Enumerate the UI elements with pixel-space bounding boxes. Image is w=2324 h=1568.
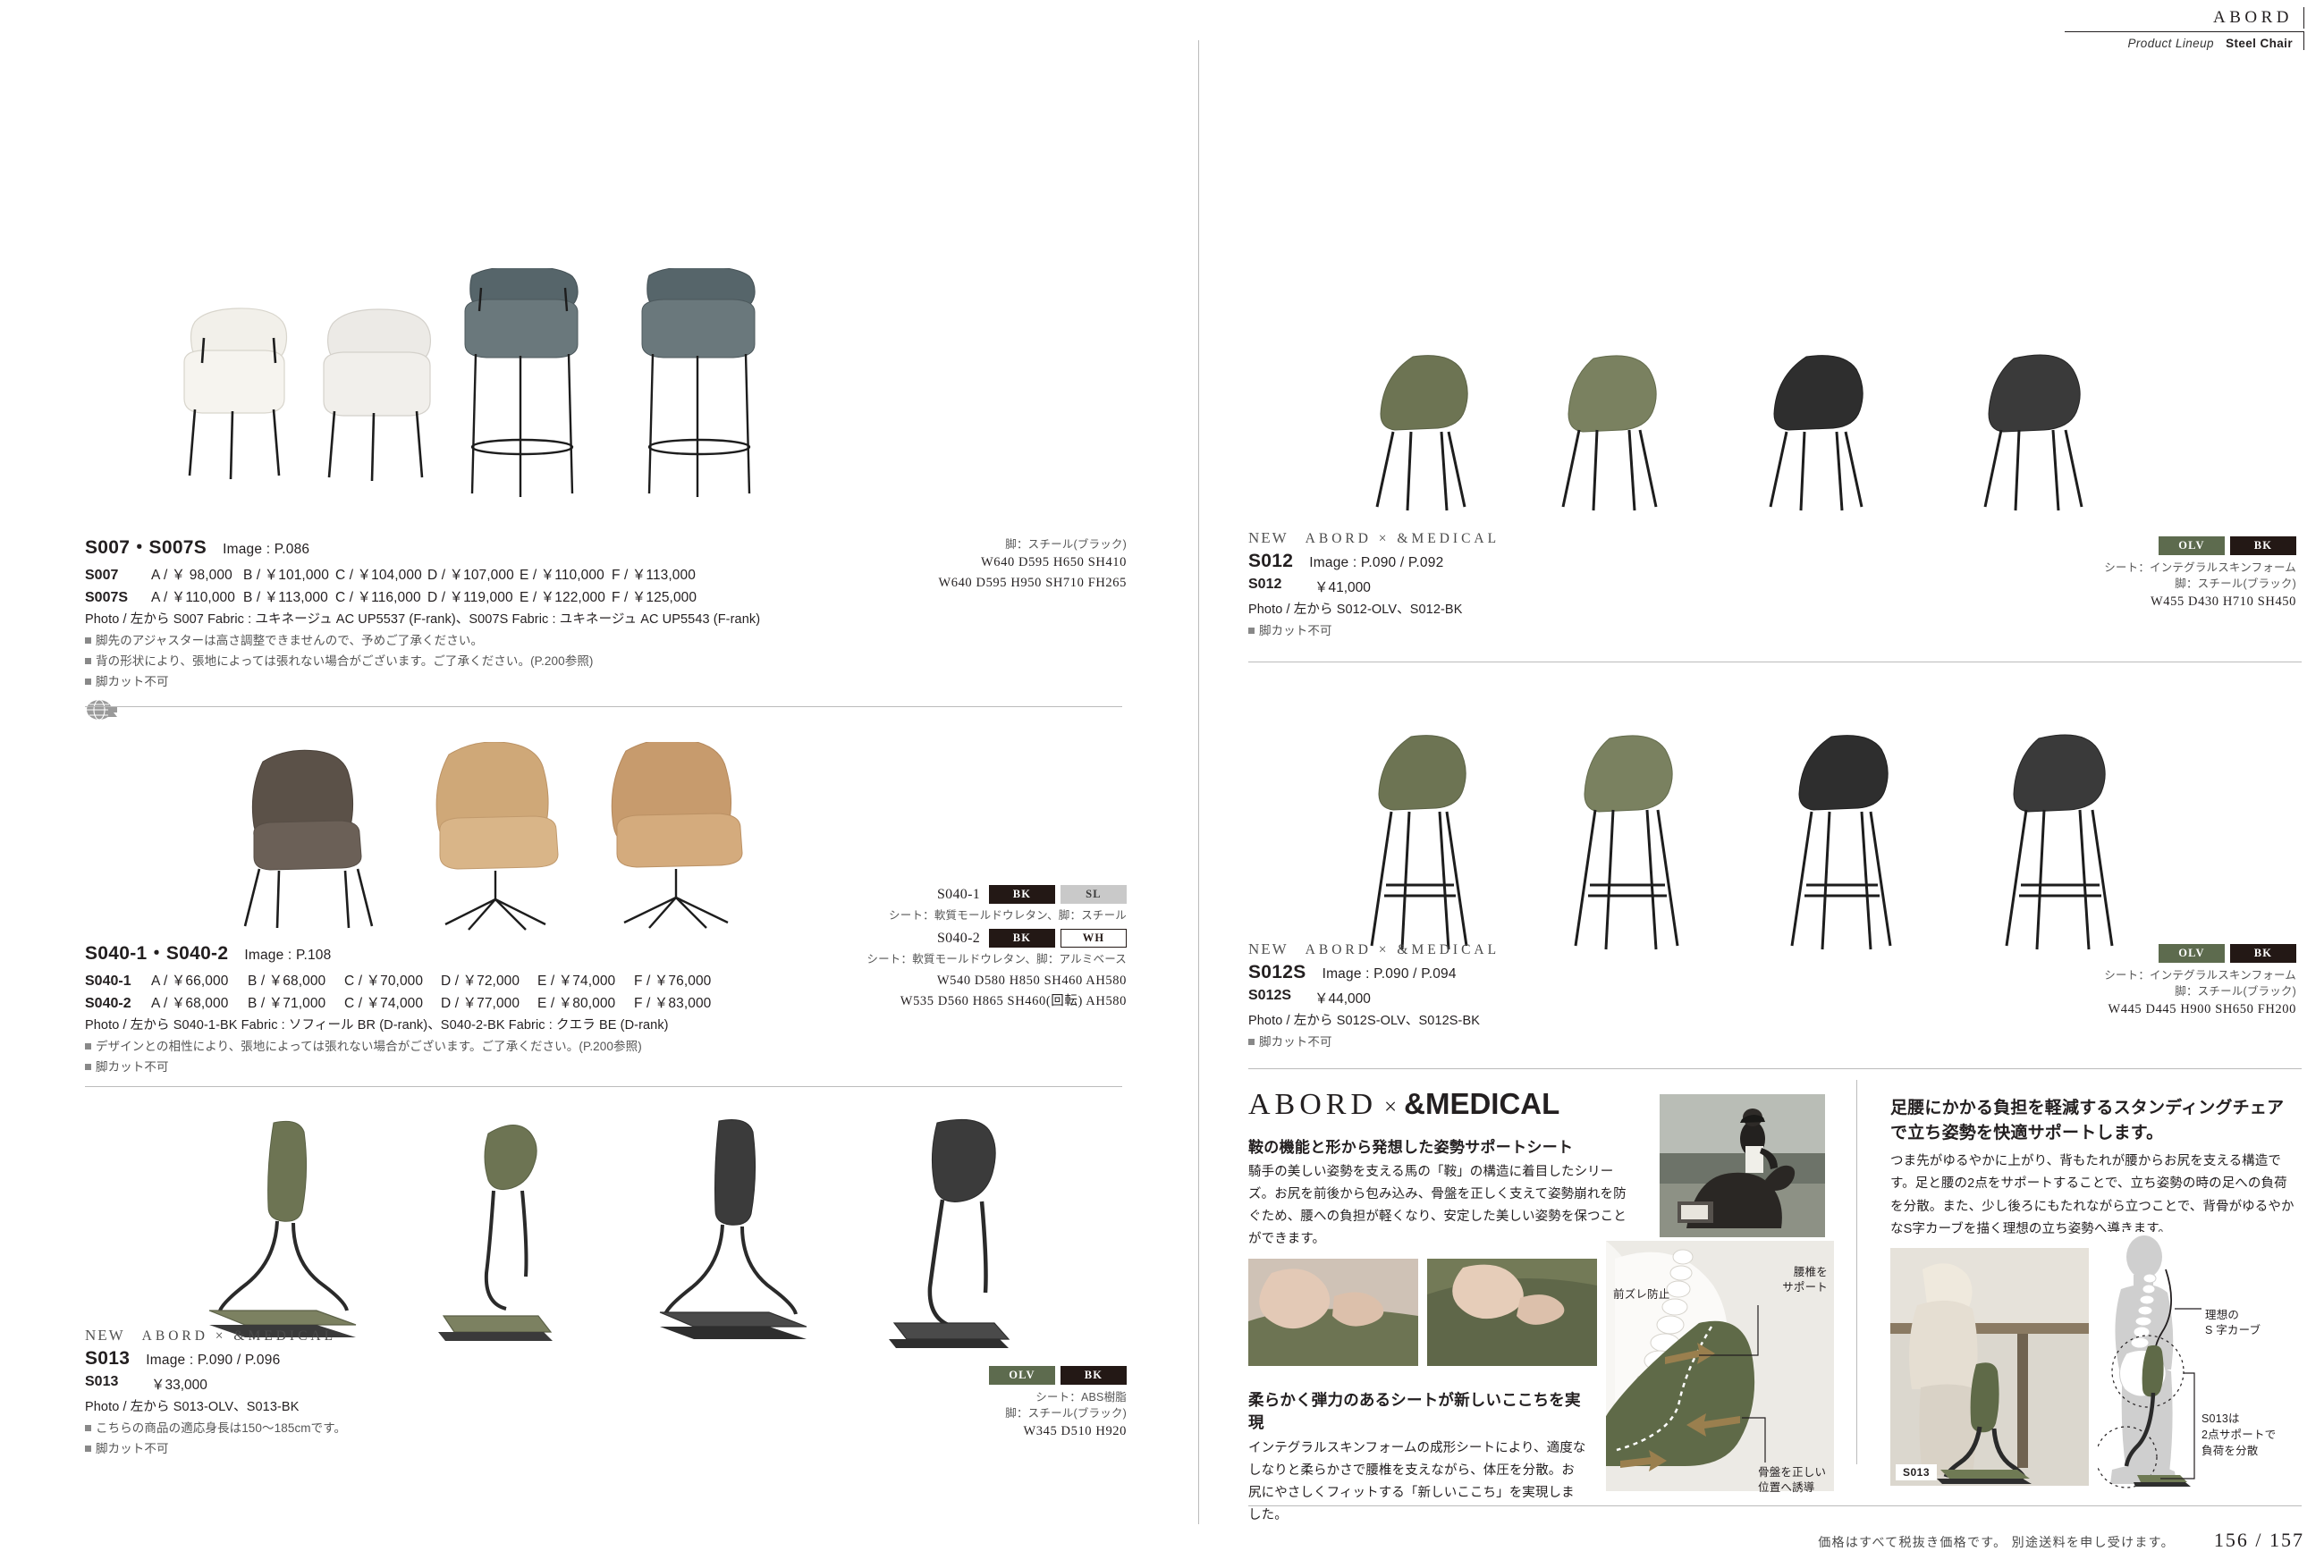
s013-photo-line: Photo / 左から S013-OLV、S013-BK xyxy=(85,1396,818,1415)
s040-image-ref: Image : P.108 xyxy=(244,948,331,964)
brand-logo: ABORD xyxy=(2213,7,2304,29)
collab-brand: ABORD × &MEDICAL xyxy=(1306,531,1500,546)
bullet-square-icon xyxy=(85,1043,91,1050)
s040-2-price-row: S040-2 A / ￥68,000 B / ￥71,000 C / ￥74,0… xyxy=(85,992,818,1012)
s013-dimensions: W345 D510 H920 xyxy=(894,1421,1127,1441)
s013-price-row: S013 ￥33,000 xyxy=(85,1374,818,1394)
price-code: S012 xyxy=(1248,577,1314,596)
price-cell: D / ￥107,000 xyxy=(427,564,520,584)
standing-chair-usage-illustration xyxy=(1890,1248,2089,1486)
callout-lumbar-support: 腰椎を サポート xyxy=(1765,1250,1828,1295)
swatch-wh[interactable]: WH xyxy=(1061,929,1127,948)
price-cell: F / ￥125,000 xyxy=(612,586,704,606)
s007-code: S007・S007S xyxy=(85,533,207,560)
s007-title-row: S007・S007S Image : P.086 xyxy=(85,533,818,560)
feature-right: 足腰にかかる負担を軽減するスタンディングチェアで立ち姿勢を快適サポートします。 … xyxy=(1890,1096,2298,1242)
s040-code: S040-1・S040-2 xyxy=(85,939,228,965)
price-cell: C / ￥74,000 xyxy=(344,992,441,1012)
s040-chairs-illustration xyxy=(224,742,885,939)
section-divider xyxy=(85,706,1122,707)
s007-image-ref: Image : P.086 xyxy=(223,542,309,558)
s012s-material-seat: シート：インテグラルスキンフォーム xyxy=(2057,967,2296,983)
price-cell: F / ￥113,000 xyxy=(612,564,704,584)
note-text: 脚先のアジャスターは高さ調整できませんので、予めご了承ください。 xyxy=(96,634,483,647)
column-divider xyxy=(1198,40,1199,1524)
price-cell: C / ￥116,000 xyxy=(335,586,427,606)
product-block-s012: NEW ABORD × &MEDICAL S012 Image : P.090 … xyxy=(1248,529,1928,638)
s012s-title-row: S012S Image : P.090 / P.094 xyxy=(1248,962,1928,983)
bullet-square-icon xyxy=(85,637,91,644)
bullet-square-icon xyxy=(85,1446,91,1452)
price-cell: B / ￥101,000 xyxy=(243,564,335,584)
photo-badge-s013: S013 xyxy=(1896,1464,1937,1480)
category-label: Steel Chair xyxy=(2226,37,2293,50)
s012-note: 脚カット不可 xyxy=(1248,620,1928,638)
price-cell: B / ￥113,000 xyxy=(243,586,335,606)
feature-panel: ABORD×&MEDICAL 鞍の機能と形から発想した姿勢サポートシート 騎手の… xyxy=(1248,1080,2303,1518)
swatch-bk[interactable]: BK xyxy=(2230,944,2296,963)
swatch-olv[interactable]: OLV xyxy=(989,1366,1055,1385)
note-text: 脚カット不可 xyxy=(1259,1035,1332,1049)
s012s-stools-illustration xyxy=(1359,733,2280,961)
s012s-material-leg: 脚：スチール(ブラック) xyxy=(2057,983,2296,999)
price-value: ￥41,000 xyxy=(1314,577,1371,596)
price-code: S013 xyxy=(85,1374,151,1394)
spec-box-s013: OLV BK シート：ABS樹脂 脚：スチール(ブラック) W345 D510 … xyxy=(894,1366,1127,1442)
photo-seat-detail-2 xyxy=(1427,1259,1597,1366)
s012-chairs-illustration xyxy=(1359,353,2271,523)
bullet-square-icon xyxy=(85,1425,91,1431)
section-divider xyxy=(1248,1068,2302,1069)
feature-body-2: インテグラルスキンフォームの成形シートにより、適度なしなりと柔らかさで腰椎を支え… xyxy=(1248,1437,1586,1527)
hand-on-seat-illustration xyxy=(1248,1259,1418,1366)
price-cell: B / ￥71,000 xyxy=(248,992,344,1012)
feature-body: 騎手の美しい姿勢を支える馬の「鞍」の構造に着目したシリーズ。お尻を前後から包み込… xyxy=(1248,1161,1633,1251)
price-cell: F / ￥83,000 xyxy=(634,992,731,1012)
callout-ideal-s-curve: 理想の S 字カーブ xyxy=(2205,1293,2261,1338)
s013-title-row: S013 Image : P.090 / P.096 xyxy=(85,1348,818,1370)
s013-image-ref: Image : P.090 / P.096 xyxy=(146,1353,280,1369)
price-cell: C / ￥70,000 xyxy=(344,970,441,990)
s012-dimensions: W455 D430 H710 SH450 xyxy=(2057,592,2296,611)
s040-1-material: シート：軟質モールドウレタン、脚：スチール xyxy=(854,907,1127,923)
product-block-s012s: NEW ABORD × &MEDICAL S012S Image : P.090… xyxy=(1248,940,1928,1050)
product-lineup-label: Product Lineup xyxy=(2127,37,2213,50)
swatch-sl[interactable]: SL xyxy=(1061,885,1127,904)
s007-note: 脚カット不可 xyxy=(85,671,818,689)
s013-code: S013 xyxy=(85,1348,130,1370)
collab-brand: ABORD × &MEDICAL xyxy=(1306,942,1500,957)
swatch-bk[interactable]: BK xyxy=(989,929,1055,948)
price-cell: D / ￥77,000 xyxy=(441,992,537,1012)
s012-photo-line: Photo / 左から S012-OLV、S012-BK xyxy=(1248,599,1928,618)
price-cell: C / ￥104,000 xyxy=(335,564,427,584)
diagram-ideal-posture: 理想の S 字カーブ S013は 2点サポートで 負荷を分散 xyxy=(2098,1232,2300,1491)
photo-s013-in-use: S013 xyxy=(1890,1248,2089,1486)
note-text: 脚カット不可 xyxy=(96,675,169,688)
product-photo-s012s xyxy=(1359,733,2280,961)
spec-box-s012: OLV BK シート：インテグラルスキンフォーム 脚：スチール(ブラック) W4… xyxy=(2057,536,2296,612)
s040-photo-line: Photo / 左から S040-1-BK Fabric : ソフィール BR … xyxy=(85,1015,818,1033)
swatch-bk[interactable]: BK xyxy=(989,885,1055,904)
collab-brand: ABORD × &MEDICAL xyxy=(142,1328,336,1344)
s012s-photo-line: Photo / 左から S012S-OLV、S012S-BK xyxy=(1248,1010,1928,1029)
s040-1-price-row: S040-1 A / ￥66,000 B / ￥68,000 C / ￥70,0… xyxy=(85,970,818,990)
s007-chairs-illustration xyxy=(89,268,1091,527)
s040-1-label: S040-1 xyxy=(937,887,980,903)
price-cell: D / ￥119,000 xyxy=(427,586,520,606)
spec-box-s040: S040-1 BK SL シート：軟質モールドウレタン、脚：スチール S040-… xyxy=(854,885,1127,1011)
feature-brand-abord: ABORD xyxy=(1248,1088,1377,1121)
s012-material-seat: シート：インテグラルスキンフォーム xyxy=(2057,560,2296,576)
spec-box-s012s: OLV BK シート：インテグラルスキンフォーム 脚：スチール(ブラック) W4… xyxy=(2057,944,2296,1020)
s012-swatch-row: OLV BK xyxy=(2057,536,2296,555)
note-text: 脚カット不可 xyxy=(96,1442,169,1455)
product-photo-s040 xyxy=(224,742,885,939)
s007-price-row: S007 A / ￥ 98,000 B / ￥101,000 C / ￥104,… xyxy=(85,564,818,584)
new-badge: NEW xyxy=(1248,940,1289,957)
price-cell: D / ￥72,000 xyxy=(441,970,537,990)
page-header: ABORD Product Lineup Steel Chair xyxy=(2065,7,2304,52)
price-cell: A / ￥68,000 xyxy=(151,992,248,1012)
s013-swatch-row: OLV BK xyxy=(894,1366,1127,1385)
product-block-s013: NEW ABORD × &MEDICAL S013 Image : P.090 … xyxy=(85,1327,818,1456)
s040-2-swatch-row: S040-2 BK WH xyxy=(854,929,1127,948)
s040-note: 脚カット不可 xyxy=(85,1057,818,1075)
s012s-price-row: S012S ￥44,000 xyxy=(1248,988,1928,1007)
feature-right-body: つま先がゆるやかに上がり、背もたれが腰からお尻を支える構造です。足と腰の2点をサ… xyxy=(1890,1151,2298,1242)
price-cell: A / ￥110,000 xyxy=(151,586,243,606)
page-number: 156 / 157 xyxy=(2214,1529,2304,1552)
s012s-image-ref: Image : P.090 / P.094 xyxy=(1323,966,1457,982)
bullet-square-icon xyxy=(85,679,91,685)
s007s-dimensions: W640 D595 H950 SH710 FH265 xyxy=(858,573,1127,593)
s012s-swatch-row: OLV BK xyxy=(2057,944,2296,963)
globe-fabric-icon xyxy=(85,698,121,721)
section-divider xyxy=(85,1086,1122,1087)
swatch-olv[interactable]: OLV xyxy=(2159,944,2225,963)
footer-divider xyxy=(1248,1505,2302,1506)
price-cell: A / ￥66,000 xyxy=(151,970,248,990)
s040-2-material: シート：軟質モールドウレタン、脚：アルミベース xyxy=(854,951,1127,967)
s007-photo-line: Photo / 左から S007 Fabric : ユキネージュ AC UP55… xyxy=(85,609,818,628)
hand-pressing-seat-illustration xyxy=(1427,1259,1597,1366)
callout-text: 腰椎を サポート xyxy=(1782,1266,1828,1294)
callout-text: 理想の S 字カーブ xyxy=(2205,1309,2261,1336)
s040-note: デザインとの相性により、張地によっては張れない場合がございます。ご了承ください。… xyxy=(85,1036,818,1054)
price-code: S040-2 xyxy=(85,996,151,1012)
note-text: 脚カット不可 xyxy=(1259,624,1332,637)
s007-note: 背の形状により、張地によっては張れない場合がございます。ご了承ください。(P.2… xyxy=(85,651,818,669)
s012s-dimensions: W445 D445 H900 SH650 FH200 xyxy=(2057,999,2296,1019)
price-code: S007S xyxy=(85,590,151,606)
spec-box-s007: 脚：スチール(ブラック) W640 D595 H650 SH410 W640 D… xyxy=(858,536,1127,593)
bullet-square-icon xyxy=(1248,628,1255,634)
s012s-code: S012S xyxy=(1248,962,1306,983)
price-cell: F / ￥76,000 xyxy=(634,970,731,990)
price-value: ￥44,000 xyxy=(1314,988,1371,1007)
feature-right-heading: 足腰にかかる負担を軽減するスタンディングチェアで立ち姿勢を快適サポートします。 xyxy=(1890,1096,2298,1145)
feature-subheading: 鞍の機能と形から発想した姿勢サポートシート xyxy=(1248,1134,1633,1157)
feature-brand-medical: &MEDICAL xyxy=(1404,1087,1559,1120)
callout-text: S013は 2点サポートで 負荷を分散 xyxy=(2201,1412,2276,1457)
s013-note: 脚カット不可 xyxy=(85,1438,818,1456)
s007-material: 脚：スチール(ブラック) xyxy=(858,536,1127,552)
swatch-bk[interactable]: BK xyxy=(2230,536,2296,555)
note-text: こちらの商品の適応身長は150～185cmです。 xyxy=(96,1421,346,1435)
swatch-bk[interactable]: BK xyxy=(1061,1366,1127,1385)
bullet-square-icon xyxy=(85,1064,91,1070)
s040-2-label: S040-2 xyxy=(937,931,980,947)
footer-note: 価格はすべて税抜き価格です。 別途送料を申し受けます。 xyxy=(1818,1533,2175,1551)
s012-material-leg: 脚：スチール(ブラック) xyxy=(2057,576,2296,592)
swatch-olv[interactable]: OLV xyxy=(2159,536,2225,555)
cross-icon: × xyxy=(1384,1095,1397,1119)
s040-title-row: S040-1・S040-2 Image : P.108 xyxy=(85,939,818,965)
s040-1-dimensions: W540 D580 H850 SH460 AH580 xyxy=(854,971,1127,991)
s012-collab-line: NEW ABORD × &MEDICAL xyxy=(1248,529,1928,547)
s012s-note: 脚カット不可 xyxy=(1248,1032,1928,1050)
callout-text: 前ズレ防止 xyxy=(1613,1288,1670,1301)
product-photo-s012 xyxy=(1359,353,2271,523)
s012-code: S012 xyxy=(1248,551,1293,572)
s013-material-seat: シート：ABS樹脂 xyxy=(894,1389,1127,1405)
s012s-collab-line: NEW ABORD × &MEDICAL xyxy=(1248,940,1928,958)
bullet-square-icon xyxy=(1248,1039,1255,1045)
price-cell: A / ￥ 98,000 xyxy=(151,564,243,584)
feature-subheading-2: 柔らかく弾力のあるシートが新しいここちを実現 xyxy=(1248,1388,1588,1433)
product-block-s007: S007・S007S Image : P.086 S007 A / ￥ 98,0… xyxy=(85,533,818,726)
s012-price-row: S012 ￥41,000 xyxy=(1248,577,1928,596)
price-code: S007 xyxy=(85,568,151,584)
price-cell: E / ￥122,000 xyxy=(520,586,612,606)
feature-divider xyxy=(1856,1080,1857,1464)
s012-image-ref: Image : P.090 / P.092 xyxy=(1309,555,1443,571)
price-code: S040-1 xyxy=(85,974,151,990)
new-badge: NEW xyxy=(85,1327,125,1344)
s007s-price-row: S007S A / ￥110,000 B / ￥113,000 C / ￥116… xyxy=(85,586,818,606)
callout-two-point-support: S013は 2点サポートで 負荷を分散 xyxy=(2201,1395,2276,1460)
s040-2-dimensions: W535 D560 H865 SH460(回転) AH580 xyxy=(854,991,1127,1011)
product-photo-s007 xyxy=(89,268,1091,527)
bullet-square-icon xyxy=(85,658,91,664)
price-cell: E / ￥80,000 xyxy=(537,992,634,1012)
photo-horse-rider xyxy=(1660,1094,1825,1237)
note-text: 背の形状により、張地によっては張れない場合がございます。ご了承ください。(P.2… xyxy=(96,654,594,668)
price-code: S012S xyxy=(1248,988,1314,1007)
s007-dimensions: W640 D595 H650 SH410 xyxy=(858,552,1127,572)
page-footer: 価格はすべて税抜き価格です。 別途送料を申し受けます。 156 / 157 xyxy=(1818,1529,2304,1552)
product-block-s040: S040-1・S040-2 Image : P.108 S040-1 A / ￥… xyxy=(85,939,818,1075)
callout-pelvis-guide: 骨盤を正しい 位置へ誘導 xyxy=(1758,1450,1835,1496)
section-divider xyxy=(1248,662,2302,662)
header-subline: Product Lineup Steel Chair xyxy=(2127,32,2304,50)
price-cell: E / ￥110,000 xyxy=(520,564,612,584)
photo-seat-detail-1 xyxy=(1248,1259,1418,1366)
s013-collab-line: NEW ABORD × &MEDICAL xyxy=(85,1327,818,1345)
note-text: デザインとの相性により、張地によっては張れない場合がございます。ご了承ください。… xyxy=(96,1040,642,1053)
s012-title-row: S012 Image : P.090 / P.092 xyxy=(1248,551,1928,572)
s013-material-leg: 脚：スチール(ブラック) xyxy=(894,1405,1127,1421)
price-cell: E / ￥74,000 xyxy=(537,970,634,990)
s040-1-swatch-row: S040-1 BK SL xyxy=(854,885,1127,904)
s007-note: 脚先のアジャスターは高さ調整できませんので、予めご了承ください。 xyxy=(85,630,818,648)
price-value: ￥33,000 xyxy=(151,1374,207,1394)
s013-note: こちらの商品の適応身長は150～185cmです。 xyxy=(85,1418,818,1436)
price-cell: B / ￥68,000 xyxy=(248,970,344,990)
horse-rider-illustration xyxy=(1660,1094,1825,1237)
note-text: 脚カット不可 xyxy=(96,1060,169,1074)
callout-text: 骨盤を正しい 位置へ誘導 xyxy=(1758,1466,1826,1494)
new-badge: NEW xyxy=(1248,529,1289,546)
callout-slip-prevention: 前ズレ防止 xyxy=(1613,1287,1670,1302)
